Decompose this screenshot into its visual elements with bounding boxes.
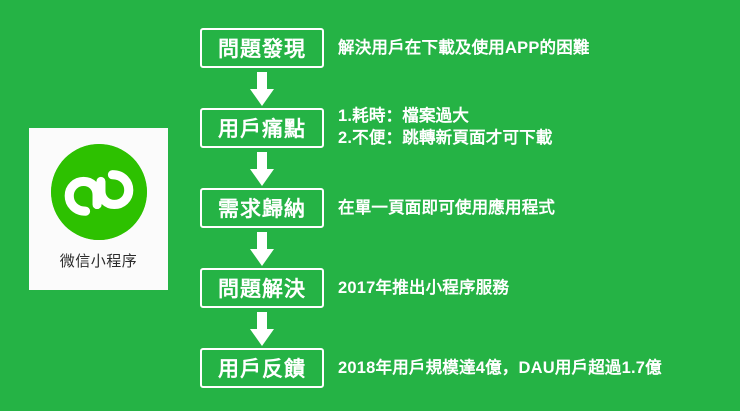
stage-description-5: 2018年用戶規模達4億，DAU用戶超過1.7億 [338, 357, 662, 379]
arrow-down-icon-3 [250, 232, 274, 266]
stage-description-4: 2017年推出小程序服務 [338, 277, 509, 299]
flow-step-1: 問題發現 解決用戶在下載及使用APP的困難 [200, 28, 590, 68]
flow-step-2: 用戶痛點 1.耗時：檔案過大 2.不便：跳轉新頁面才可下載 [200, 108, 553, 148]
stage-description-3: 在單一頁面即可使用應用程式 [338, 197, 555, 219]
arrow-down-icon-1 [250, 72, 274, 106]
logo-caption: 微信小程序 [60, 254, 138, 269]
infographic-canvas: 微信小程序 問題發現 解決用戶在下載及使用APP的困難 用戶痛點 1.耗時：檔案… [0, 0, 740, 411]
arrow-down-icon-4 [250, 312, 274, 346]
stage-description-2: 1.耗時：檔案過大 2.不便：跳轉新頁面才可下載 [338, 106, 553, 150]
stage-label-4[interactable]: 問題解決 [200, 268, 324, 308]
stage-description-1: 解決用戶在下載及使用APP的困難 [338, 37, 590, 59]
stage-label-2[interactable]: 用戶痛點 [200, 108, 324, 148]
wechat-mini-program-card: 微信小程序 [29, 128, 168, 290]
stage-label-1[interactable]: 問題發現 [200, 28, 324, 68]
arrow-down-icon-2 [250, 152, 274, 186]
stage-label-3[interactable]: 需求歸納 [200, 188, 324, 228]
flow-step-5: 用戶反饋 2018年用戶規模達4億，DAU用戶超過1.7億 [200, 348, 662, 388]
flow-step-3: 需求歸納 在單一頁面即可使用應用程式 [200, 188, 555, 228]
stage-label-5[interactable]: 用戶反饋 [200, 348, 324, 388]
wechat-mini-program-logo-icon [51, 144, 147, 240]
flow-step-4: 問題解決 2017年推出小程序服務 [200, 268, 509, 308]
